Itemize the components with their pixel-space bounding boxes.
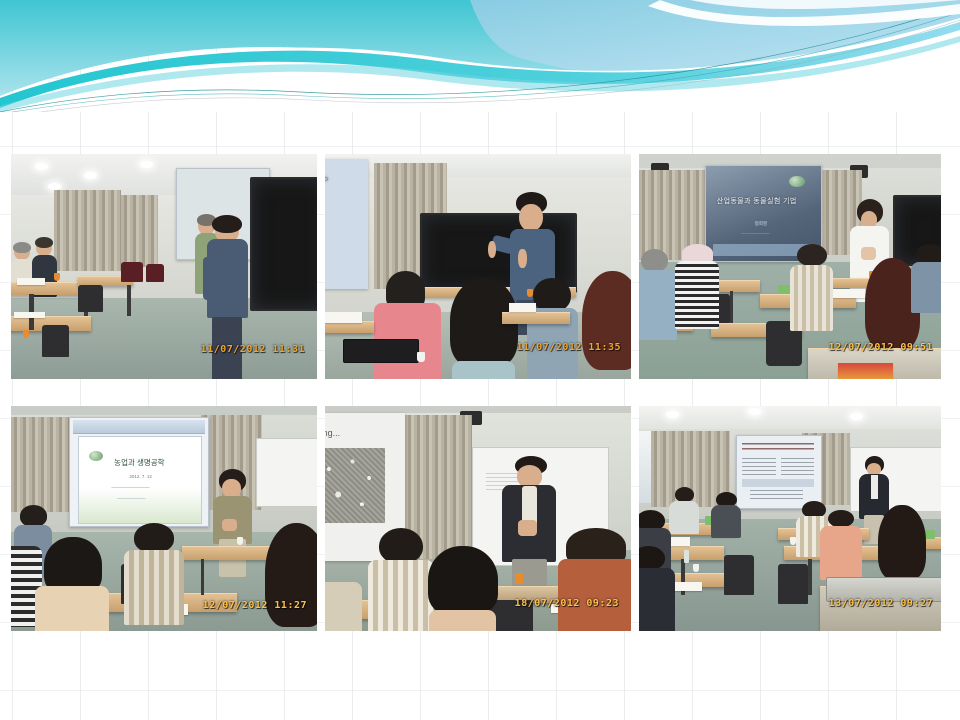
seated-attendee (325, 582, 362, 632)
inner-shirt (871, 475, 878, 499)
seated-attendee (423, 546, 503, 632)
projection-screen (325, 159, 368, 290)
hair (533, 278, 570, 312)
projected-slide-body-right (781, 458, 815, 475)
hair (212, 215, 242, 233)
torso (675, 261, 718, 329)
hand-right (518, 249, 526, 268)
photo-timestamp: 18/07/2012 09:23 (515, 598, 619, 609)
torso (325, 582, 362, 632)
projected-micrograph (325, 448, 385, 522)
slide-globe-graphic (89, 451, 103, 461)
seated-attendee (669, 487, 699, 532)
seated-attendee-cap (675, 244, 720, 330)
torso (452, 361, 515, 379)
seated-attendee (262, 523, 317, 631)
hair (379, 528, 423, 565)
colorful-handout (838, 363, 892, 379)
projected-slide-contact: ───────── (117, 496, 146, 501)
photo-3[interactable]: 산업동물과 동물실험 기법 정희영 ───────── (639, 154, 941, 379)
paper-sheet (325, 312, 362, 323)
standing-presenter-main (502, 456, 557, 596)
hair (428, 546, 498, 616)
photo-6[interactable]: 13/07/2012 09:27 (639, 406, 941, 631)
photo-5[interactable]: inging... (325, 406, 631, 631)
paper-sheet (17, 278, 45, 285)
projected-slide-presenter: 정희영 (755, 221, 767, 227)
hands (518, 520, 537, 537)
photo-row-1: 11/07/2012 11:31 ㅇ (11, 154, 949, 379)
paper-cup (693, 564, 699, 572)
paper-sheet (832, 289, 865, 298)
hair (13, 242, 31, 253)
hair (641, 249, 668, 272)
hands (222, 519, 236, 531)
office-chair (42, 325, 70, 357)
torso (35, 586, 108, 631)
photo-4-scene: 농업과 생명공학 2012. 7. 12 ──────────── ──────… (11, 406, 317, 631)
ceiling-light (850, 413, 863, 420)
window-curtain (11, 417, 72, 512)
projected-slide-text: inging... (325, 428, 340, 438)
decorative-wave-banner (0, 0, 960, 112)
wave-graphic (0, 0, 960, 112)
torso (639, 270, 677, 340)
hair (639, 546, 665, 571)
seated-attendee (711, 492, 741, 537)
photo-timestamp: 12/07/2012 09:51 (829, 342, 933, 353)
projected-slide-body-left (742, 458, 776, 475)
office-chair (78, 285, 102, 312)
slide-globe-graphic (789, 176, 805, 187)
seated-attendee (447, 278, 520, 379)
hair (797, 244, 827, 266)
projected-slide-affiliation: ───────── (741, 231, 770, 236)
torso (790, 265, 833, 332)
seated-attendee (35, 537, 108, 632)
projected-slide-title: 산업동물과 동물실험 기법 (717, 196, 797, 206)
cap (682, 244, 714, 263)
projected-slide-title: 농업과 생명공학 (114, 457, 164, 468)
photo-2[interactable]: ㅇ (325, 154, 631, 379)
paper-cup (417, 352, 425, 362)
presentation-slide: 11/07/2012 11:31 ㅇ (0, 0, 960, 720)
desk-leg (808, 559, 812, 595)
seated-attendee (639, 546, 675, 632)
window-curtain (54, 190, 121, 271)
desk-leg (730, 291, 734, 323)
projected-slide-fragment: ㅇ (325, 174, 330, 185)
arm-right-gesture (528, 243, 550, 260)
hair (878, 505, 926, 580)
hair (134, 523, 174, 553)
torso (124, 550, 184, 625)
stacked-chair (121, 262, 142, 282)
photo-collage-grid: 11/07/2012 11:31 ㅇ (11, 154, 949, 631)
torso (711, 505, 741, 538)
projected-slide-footer (750, 490, 802, 503)
slide-window-chrome (73, 420, 205, 434)
desk-device (343, 339, 418, 364)
hand-left (488, 241, 496, 259)
projected-slide-affiliation: ──────────── (111, 485, 149, 490)
photo-row-2: 농업과 생명공학 2012. 7. 12 ──────────── ──────… (11, 406, 949, 631)
slide-content-area (78, 436, 201, 524)
torso (429, 610, 496, 631)
desk-leg (201, 559, 205, 595)
projection-screen: 농업과 생명공학 2012. 7. 12 ──────────── ──────… (69, 417, 209, 527)
ceiling-light (666, 411, 679, 418)
whiteboard (256, 438, 317, 508)
chair (724, 555, 754, 596)
projected-slide-table (742, 479, 815, 486)
paper-cup (237, 537, 243, 545)
photo-timestamp: 11/07/2012 11:35 (517, 342, 621, 353)
seated-attendee (639, 249, 678, 339)
paper-cup (54, 273, 60, 281)
seated-attendee (911, 244, 941, 312)
torso (669, 501, 699, 534)
seated-attendee (124, 523, 185, 622)
window-curtain (121, 195, 158, 267)
water-bottle (684, 550, 689, 563)
arm (203, 257, 214, 300)
desk-leg (127, 285, 131, 317)
photo-1[interactable]: 11/07/2012 11:31 (11, 154, 317, 379)
ceiling-light (140, 161, 153, 168)
attendee-desk (502, 312, 569, 324)
torso (639, 568, 675, 631)
photo-timestamp: 12/07/2012 11:27 (203, 600, 307, 611)
paper-sheet (509, 303, 537, 312)
torso (558, 559, 631, 631)
torso (820, 526, 861, 580)
seated-attendee (790, 244, 835, 330)
face (519, 204, 542, 231)
photo-4[interactable]: 농업과 생명공학 2012. 7. 12 ──────────── ──────… (11, 406, 317, 631)
paper-sheet (14, 312, 45, 319)
hair (35, 237, 53, 248)
hair (916, 244, 941, 263)
seated-attendee (820, 510, 862, 578)
torso (911, 262, 941, 313)
stacked-chair (146, 264, 164, 282)
photo-timestamp: 13/07/2012 09:27 (829, 598, 933, 609)
projected-slide-heading (742, 443, 815, 450)
hair (582, 271, 631, 370)
seated-attendee (558, 528, 631, 632)
hair (20, 505, 48, 527)
flat-screen-monitor (250, 177, 317, 312)
paper-cup (527, 289, 533, 297)
paper-cup (515, 573, 523, 584)
seated-attendee (527, 278, 579, 379)
projected-slide-subtitle: 2012. 7. 12 (129, 474, 152, 479)
paper-cup (23, 330, 29, 338)
hair (828, 510, 854, 528)
photo-timestamp: 11/07/2012 11:31 (201, 344, 305, 355)
projection-screen (736, 435, 823, 509)
seated-attendee (582, 271, 631, 379)
chair (778, 564, 808, 605)
